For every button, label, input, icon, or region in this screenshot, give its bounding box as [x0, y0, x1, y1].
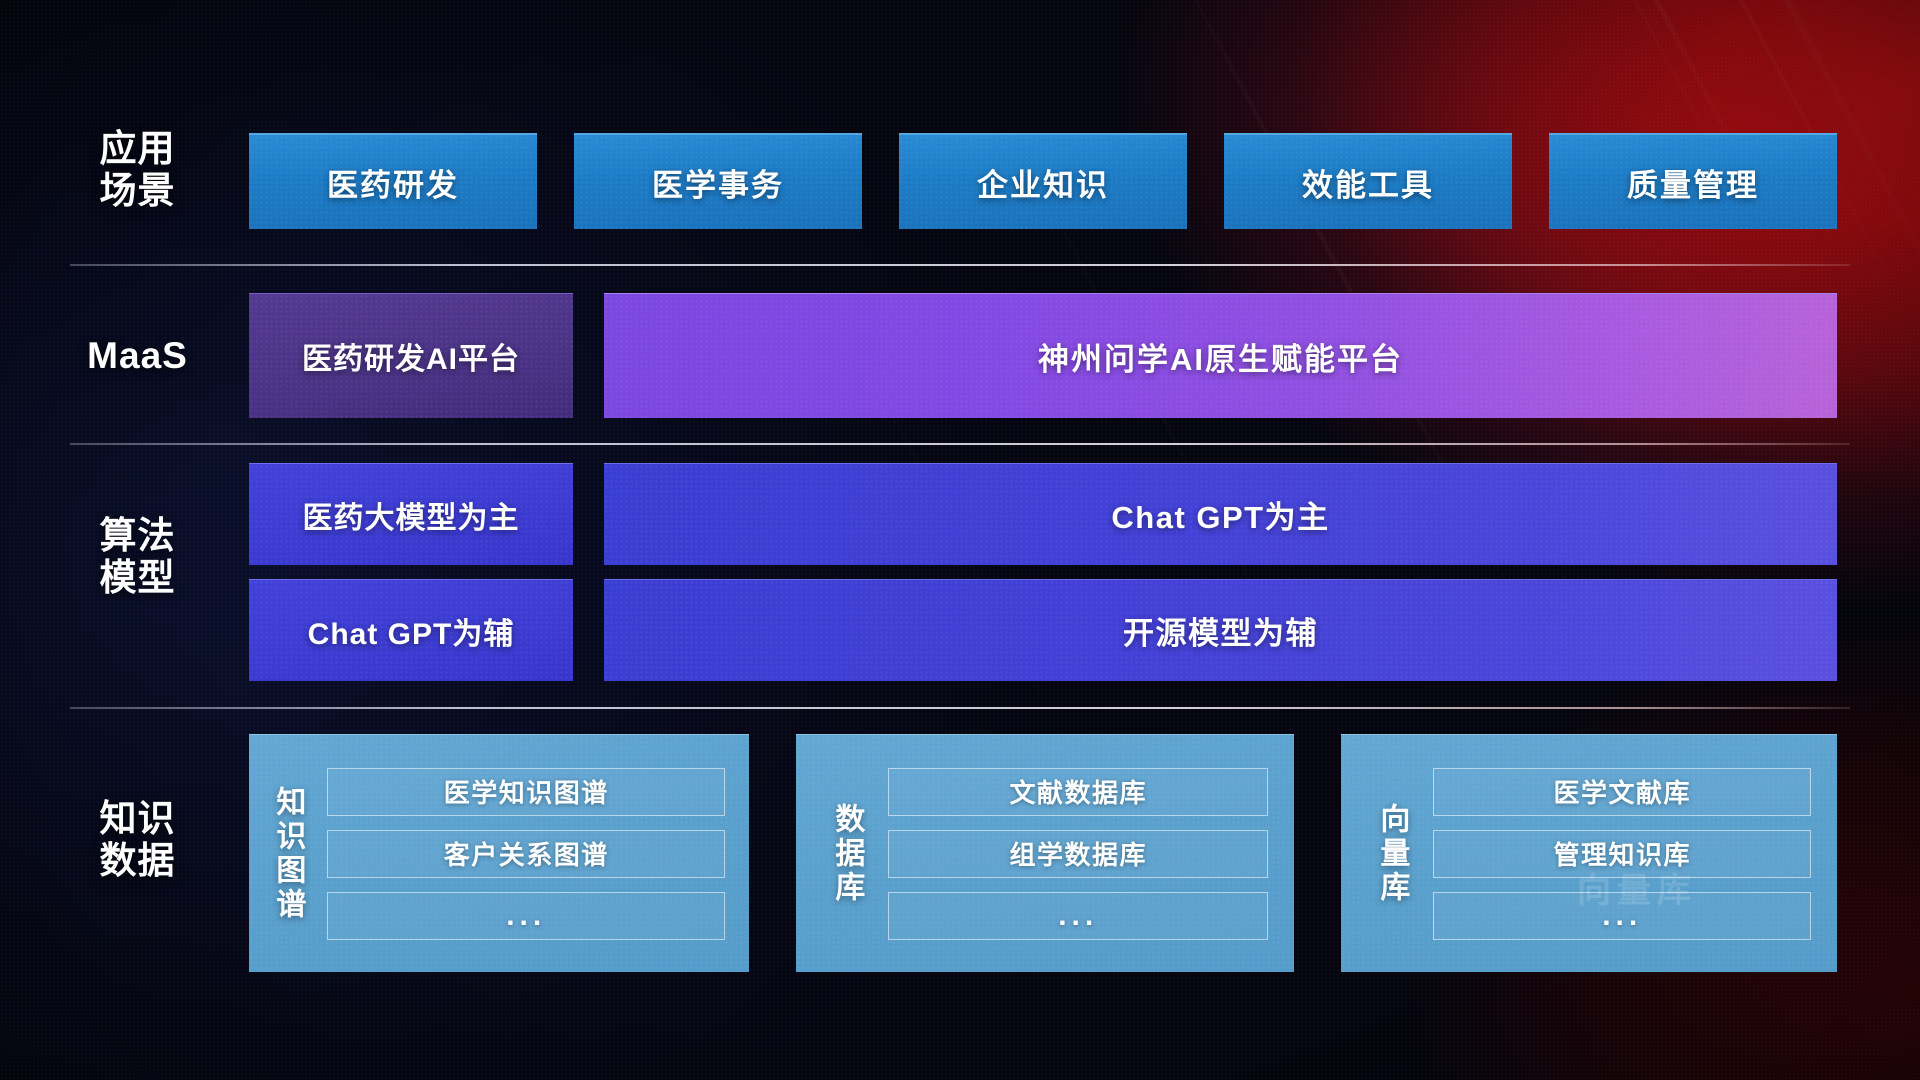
- knowledge-item-label: ...: [1602, 899, 1642, 933]
- app-box-label: 质量管理: [1627, 160, 1759, 205]
- algo-box-opensource-secondary[interactable]: 开源模型为辅: [604, 579, 1837, 681]
- knowledge-group-database[interactable]: 数据库 文献数据库 组学数据库 ...: [796, 734, 1294, 972]
- algo-box-chatgpt-primary[interactable]: Chat GPT为主: [604, 463, 1837, 565]
- maas-box-shenzhou-platform[interactable]: 神州问学AI原生赋能平台: [604, 293, 1837, 418]
- knowledge-item[interactable]: 医学知识图谱: [327, 768, 725, 816]
- knowledge-item-label: 管理知识库: [1553, 835, 1691, 872]
- knowledge-item-label: ...: [506, 899, 546, 933]
- divider-application-maas: [70, 264, 1850, 266]
- app-box-3[interactable]: 效能工具: [1224, 133, 1512, 229]
- knowledge-item[interactable]: 医学文献库: [1433, 768, 1811, 816]
- app-box-label: 效能工具: [1302, 160, 1434, 205]
- knowledge-item-label: ...: [1058, 899, 1098, 933]
- knowledge-item-more[interactable]: ...: [327, 892, 725, 940]
- knowledge-item-more[interactable]: ...: [888, 892, 1268, 940]
- knowledge-group-title: 知识图谱: [271, 786, 303, 922]
- app-box-4[interactable]: 质量管理: [1549, 133, 1837, 229]
- app-box-2[interactable]: 企业知识: [899, 133, 1187, 229]
- maas-box-medical-ai-platform[interactable]: 医药研发AI平台: [249, 293, 573, 418]
- algo-box-label: 医药大模型为主: [303, 493, 520, 537]
- knowledge-item[interactable]: 组学数据库: [888, 830, 1268, 878]
- algo-box-label: 开源模型为辅: [1123, 608, 1318, 653]
- divider-maas-algorithm: [70, 443, 1850, 445]
- row-label-algorithm: 算法 模型: [70, 515, 205, 599]
- algo-box-label: Chat GPT为辅: [308, 609, 515, 653]
- row-label-maas: MaaS: [70, 335, 205, 377]
- app-box-label: 医学事务: [652, 160, 784, 205]
- algo-box-label: Chat GPT为主: [1111, 492, 1329, 537]
- knowledge-item[interactable]: 客户关系图谱: [327, 830, 725, 878]
- knowledge-item[interactable]: 文献数据库: [888, 768, 1268, 816]
- maas-box-label: 神州问学AI原生赋能平台: [1038, 334, 1403, 379]
- row-label-knowledge: 知识 数据: [70, 798, 205, 882]
- app-box-1[interactable]: 医学事务: [574, 133, 862, 229]
- algo-box-medical-model-primary[interactable]: 医药大模型为主: [249, 463, 573, 565]
- knowledge-item-label: 客户关系图谱: [444, 835, 609, 872]
- divider-algorithm-knowledge: [70, 707, 1850, 709]
- knowledge-group-vector[interactable]: 向量库 向量库 医学文献库 管理知识库 ...: [1341, 734, 1837, 972]
- app-box-0[interactable]: 医药研发: [249, 133, 537, 229]
- knowledge-item-more[interactable]: ...: [1433, 892, 1811, 940]
- knowledge-item-label: 医学知识图谱: [444, 773, 609, 810]
- knowledge-item[interactable]: 管理知识库: [1433, 830, 1811, 878]
- algo-box-chatgpt-secondary[interactable]: Chat GPT为辅: [249, 579, 573, 681]
- knowledge-group-title: 向量库: [1375, 803, 1407, 905]
- knowledge-group-graph[interactable]: 知识图谱 医学知识图谱 客户关系图谱 ...: [249, 734, 749, 972]
- app-box-label: 医药研发: [327, 160, 459, 205]
- knowledge-group-title: 数据库: [830, 803, 862, 905]
- knowledge-item-label: 文献数据库: [1009, 773, 1147, 810]
- knowledge-item-label: 组学数据库: [1009, 835, 1147, 872]
- architecture-diagram: 应用 场景 医药研发 医学事务 企业知识 效能工具 质量管理 MaaS 医药研发…: [0, 0, 1920, 1080]
- maas-box-label: 医药研发AI平台: [302, 334, 520, 378]
- knowledge-item-label: 医学文献库: [1553, 773, 1691, 810]
- app-box-label: 企业知识: [977, 160, 1109, 205]
- row-label-application: 应用 场景: [70, 128, 205, 212]
